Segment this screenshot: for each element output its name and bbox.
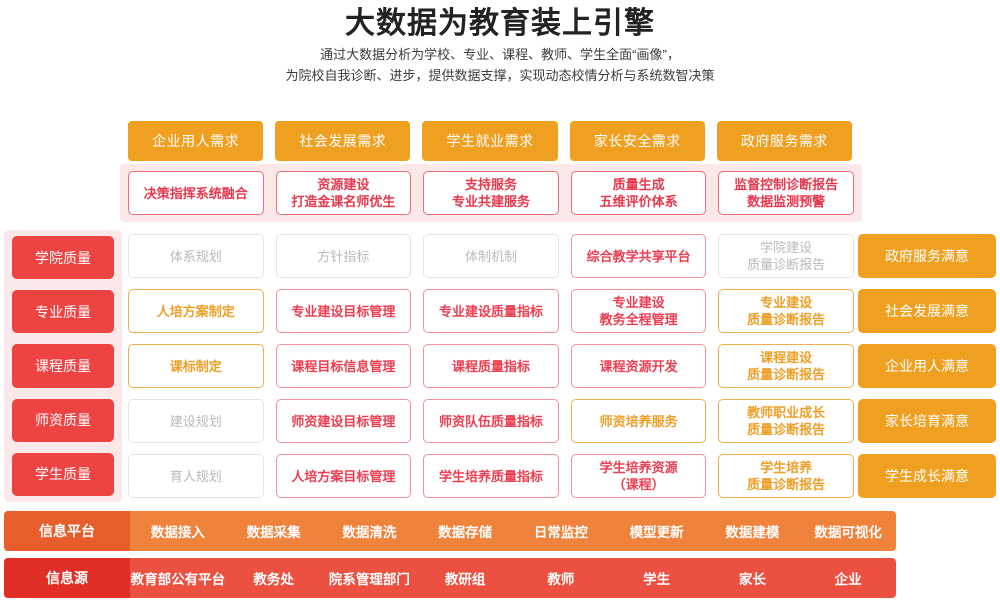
information-platform-label: 信息平台 xyxy=(4,511,130,551)
demand-cell-society[interactable]: 社会发展需求 xyxy=(275,121,410,161)
matrix-cell-r5c3-line1: 学生培养质量指标 xyxy=(439,468,543,485)
strategy-cell-5-line1: 监督控制诊断报告 xyxy=(734,176,838,193)
right-rail-item-enterprise[interactable]: 企业用人满意 xyxy=(858,344,996,388)
matrix-cell-r3c2[interactable]: 课程目标信息管理 xyxy=(276,344,412,388)
strategy-cell-4-line2: 五维评价体系 xyxy=(600,193,678,210)
strategy-cell-2[interactable]: 资源建设 打造金课名师优生 xyxy=(276,171,412,215)
matrix-cell-r3c2-line1: 课程目标信息管理 xyxy=(291,358,395,375)
matrix-cell-r1c4[interactable]: 综合教学共享平台 xyxy=(571,234,707,278)
matrix-cell-r4c1-line1: 建设规划 xyxy=(170,413,222,430)
matrix-row-major: 人培方案制定 专业建设目标管理 专业建设质量指标 专业建设 教务全程管理 专业建… xyxy=(128,289,854,333)
matrix-cell-r1c1[interactable]: 体系规划 xyxy=(128,234,264,278)
matrix-cell-r3c1[interactable]: 课标制定 xyxy=(128,344,264,388)
matrix-cell-r3c3-line1: 课程质量指标 xyxy=(452,358,530,375)
demand-cell-government[interactable]: 政府服务需求 xyxy=(717,121,852,161)
matrix-cell-r4c2-line1: 师资建设目标管理 xyxy=(291,413,395,430)
matrix-cell-r5c4[interactable]: 学生培养资源 （课程） xyxy=(571,454,707,498)
platform-item-data-visualization[interactable]: 数据可视化 xyxy=(800,511,896,551)
matrix-cell-r2c4-line1: 专业建设 xyxy=(613,294,665,311)
matrix-cell-r2c2[interactable]: 专业建设目标管理 xyxy=(276,289,412,333)
matrix-cell-r5c4-line2: （课程） xyxy=(613,476,665,493)
matrix-cell-r1c2-line1: 方针指标 xyxy=(317,248,369,265)
matrix-cell-r4c3[interactable]: 师资队伍质量指标 xyxy=(423,399,559,443)
platform-item-data-access[interactable]: 数据接入 xyxy=(130,511,226,551)
matrix-row-faculty: 建设规划 师资建设目标管理 师资队伍质量指标 师资培养服务 教师职业成长 质量诊… xyxy=(128,399,854,443)
left-rail-item-major[interactable]: 专业质量 xyxy=(12,290,114,333)
strategy-cell-2-line2: 打造金课名师优生 xyxy=(291,193,395,210)
matrix-cell-r3c4-line1: 课程资源开发 xyxy=(600,358,678,375)
matrix-cell-r2c2-line1: 专业建设目标管理 xyxy=(291,303,395,320)
matrix-cell-r5c2[interactable]: 人培方案目标管理 xyxy=(276,454,412,498)
strategy-cell-1-line1: 决策指挥系统融合 xyxy=(144,185,248,202)
matrix-cell-r4c4[interactable]: 师资培养服务 xyxy=(571,399,707,443)
source-item-teacher[interactable]: 教师 xyxy=(513,558,609,598)
page-subtitle-line-2: 为院校自我诊断、进步，提供数据支撑，实现动态校情分析与系统数智决策 xyxy=(0,65,1000,86)
matrix-cell-r5c2-line1: 人培方案目标管理 xyxy=(291,468,395,485)
right-satisfaction-rail: 政府服务满意 社会发展满意 企业用人满意 家长培育满意 学生成长满意 xyxy=(858,234,996,498)
right-rail-item-society[interactable]: 社会发展满意 xyxy=(858,289,996,333)
matrix-cell-r4c4-line1: 师资培养服务 xyxy=(600,413,678,430)
matrix-cell-r2c3[interactable]: 专业建设质量指标 xyxy=(423,289,559,333)
right-rail-item-government[interactable]: 政府服务满意 xyxy=(858,234,996,278)
matrix-cell-r1c5[interactable]: 学院建设 质量诊断报告 xyxy=(718,234,854,278)
left-rail-item-faculty[interactable]: 师资质量 xyxy=(12,399,114,442)
information-source-label: 信息源 xyxy=(4,558,130,598)
matrix-cell-r4c3-line1: 师资队伍质量指标 xyxy=(439,413,543,430)
left-rail-item-course[interactable]: 课程质量 xyxy=(12,344,114,387)
left-rail-item-college[interactable]: 学院质量 xyxy=(12,236,114,279)
matrix-row-course: 课标制定 课程目标信息管理 课程质量指标 课程资源开发 课程建设 质量诊断报告 xyxy=(128,344,854,388)
strategy-cell-4[interactable]: 质量生成 五维评价体系 xyxy=(571,171,707,215)
matrix-cell-r3c5[interactable]: 课程建设 质量诊断报告 xyxy=(718,344,854,388)
matrix-row-college: 体系规划 方针指标 体制机制 综合教学共享平台 学院建设 质量诊断报告 xyxy=(128,234,854,278)
information-source-items: 教育部公有平台 教务处 院系管理部门 教研组 教师 学生 家长 企业 xyxy=(130,558,896,598)
left-rail-item-student[interactable]: 学生质量 xyxy=(12,453,114,496)
strategy-cell-3-line1: 支持服务 xyxy=(465,176,517,193)
matrix-cell-r4c5[interactable]: 教师职业成长 质量诊断报告 xyxy=(718,399,854,443)
matrix-cell-r2c4-line2: 教务全程管理 xyxy=(600,311,678,328)
platform-item-data-collection[interactable]: 数据采集 xyxy=(226,511,322,551)
page-header: 大数据为教育装上引擎 通过大数据分析为学校、专业、课程、教师、学生全面“画像”，… xyxy=(0,0,1000,86)
source-item-moe-platform[interactable]: 教育部公有平台 xyxy=(130,558,226,598)
source-item-academic-affairs[interactable]: 教务处 xyxy=(226,558,322,598)
matrix-cell-r2c1[interactable]: 人培方案制定 xyxy=(128,289,264,333)
matrix-cell-r2c5-line2: 质量诊断报告 xyxy=(747,311,825,328)
demand-cell-enterprise[interactable]: 企业用人需求 xyxy=(128,121,263,161)
strategy-cell-5-line2: 数据监测预警 xyxy=(747,193,825,210)
page-subtitle-line-1: 通过大数据分析为学校、专业、课程、教师、学生全面“画像”， xyxy=(0,44,1000,65)
matrix-cell-r3c5-line1: 课程建设 xyxy=(760,349,812,366)
matrix-cell-r3c4[interactable]: 课程资源开发 xyxy=(571,344,707,388)
platform-item-data-cleaning[interactable]: 数据清洗 xyxy=(322,511,418,551)
platform-item-data-modeling[interactable]: 数据建模 xyxy=(705,511,801,551)
strategy-cell-1[interactable]: 决策指挥系统融合 xyxy=(128,171,264,215)
matrix-cell-r5c5[interactable]: 学生培养 质量诊断报告 xyxy=(718,454,854,498)
matrix-cell-r3c3[interactable]: 课程质量指标 xyxy=(423,344,559,388)
matrix-cell-r2c4[interactable]: 专业建设 教务全程管理 xyxy=(571,289,707,333)
matrix-cell-r2c5-line1: 专业建设 xyxy=(760,294,812,311)
demand-cell-student-employment[interactable]: 学生就业需求 xyxy=(422,121,557,161)
matrix-cell-r1c5-line1: 学院建设 xyxy=(760,239,812,256)
matrix-cell-r5c4-line1: 学生培养资源 xyxy=(600,459,678,476)
strategy-cell-3-line2: 专业共建服务 xyxy=(452,193,530,210)
matrix-cell-r5c1-line1: 育人规划 xyxy=(170,468,222,485)
matrix-cell-r2c5[interactable]: 专业建设 质量诊断报告 xyxy=(718,289,854,333)
information-platform-items: 数据接入 数据采集 数据清洗 数据存储 日常监控 模型更新 数据建模 数据可视化 xyxy=(130,511,896,551)
matrix-cell-r5c5-line1: 学生培养 xyxy=(760,459,812,476)
page-title: 大数据为教育装上引擎 xyxy=(0,4,1000,44)
matrix-cell-r4c2[interactable]: 师资建设目标管理 xyxy=(276,399,412,443)
left-category-rail: 学院质量 专业质量 课程质量 师资质量 学生质量 xyxy=(4,230,122,502)
right-rail-item-student[interactable]: 学生成长满意 xyxy=(858,454,996,498)
matrix-cell-r1c5-line2: 质量诊断报告 xyxy=(747,256,825,273)
matrix-cell-r1c4-line1: 综合教学共享平台 xyxy=(587,248,691,265)
matrix-cell-r1c1-line1: 体系规划 xyxy=(170,248,222,265)
strategy-cell-4-line1: 质量生成 xyxy=(613,176,665,193)
source-item-student[interactable]: 学生 xyxy=(609,558,705,598)
matrix-cell-r5c1[interactable]: 育人规划 xyxy=(128,454,264,498)
platform-item-data-storage[interactable]: 数据存储 xyxy=(417,511,513,551)
strategy-cell-3[interactable]: 支持服务 专业共建服务 xyxy=(423,171,559,215)
matrix-cell-r2c3-line1: 专业建设质量指标 xyxy=(439,303,543,320)
information-source-bar: 信息源 教育部公有平台 教务处 院系管理部门 教研组 教师 学生 家长 企业 xyxy=(4,558,896,598)
source-item-enterprise[interactable]: 企业 xyxy=(800,558,896,598)
matrix-cell-r4c5-line2: 质量诊断报告 xyxy=(747,421,825,438)
matrix-cell-r5c5-line2: 质量诊断报告 xyxy=(747,476,825,493)
information-platform-bar: 信息平台 数据接入 数据采集 数据清洗 数据存储 日常监控 模型更新 数据建模 … xyxy=(4,511,896,551)
matrix-cell-r1c3-line1: 体制机制 xyxy=(465,248,517,265)
right-rail-item-parent[interactable]: 家长培育满意 xyxy=(858,399,996,443)
platform-item-daily-monitoring[interactable]: 日常监控 xyxy=(513,511,609,551)
source-item-department-admin[interactable]: 院系管理部门 xyxy=(322,558,418,598)
demand-cell-parent-safety[interactable]: 家长安全需求 xyxy=(570,121,705,161)
demand-row: 企业用人需求 社会发展需求 学生就业需求 家长安全需求 政府服务需求 xyxy=(128,121,852,161)
matrix-cell-r1c3[interactable]: 体制机制 xyxy=(423,234,559,278)
matrix-cell-r4c1[interactable]: 建设规划 xyxy=(128,399,264,443)
matrix-cell-r2c1-line1: 人培方案制定 xyxy=(157,303,235,320)
matrix-cell-r3c5-line2: 质量诊断报告 xyxy=(747,366,825,383)
source-item-parent[interactable]: 家长 xyxy=(705,558,801,598)
platform-item-model-update[interactable]: 模型更新 xyxy=(609,511,705,551)
matrix-cell-r5c3[interactable]: 学生培养质量指标 xyxy=(423,454,559,498)
strategy-band: 决策指挥系统融合 资源建设 打造金课名师优生 支持服务 专业共建服务 质量生成 … xyxy=(120,164,862,222)
quality-matrix: 体系规划 方针指标 体制机制 综合教学共享平台 学院建设 质量诊断报告 人培方案… xyxy=(128,234,854,498)
matrix-cell-r1c2[interactable]: 方针指标 xyxy=(276,234,412,278)
matrix-cell-r3c1-line1: 课标制定 xyxy=(170,358,222,375)
source-item-teaching-research-group[interactable]: 教研组 xyxy=(417,558,513,598)
strategy-cell-5[interactable]: 监督控制诊断报告 数据监测预警 xyxy=(718,171,854,215)
matrix-cell-r4c5-line1: 教师职业成长 xyxy=(747,404,825,421)
matrix-row-student: 育人规划 人培方案目标管理 学生培养质量指标 学生培养资源 （课程） 学生培养 … xyxy=(128,454,854,498)
strategy-cell-2-line1: 资源建设 xyxy=(317,176,369,193)
